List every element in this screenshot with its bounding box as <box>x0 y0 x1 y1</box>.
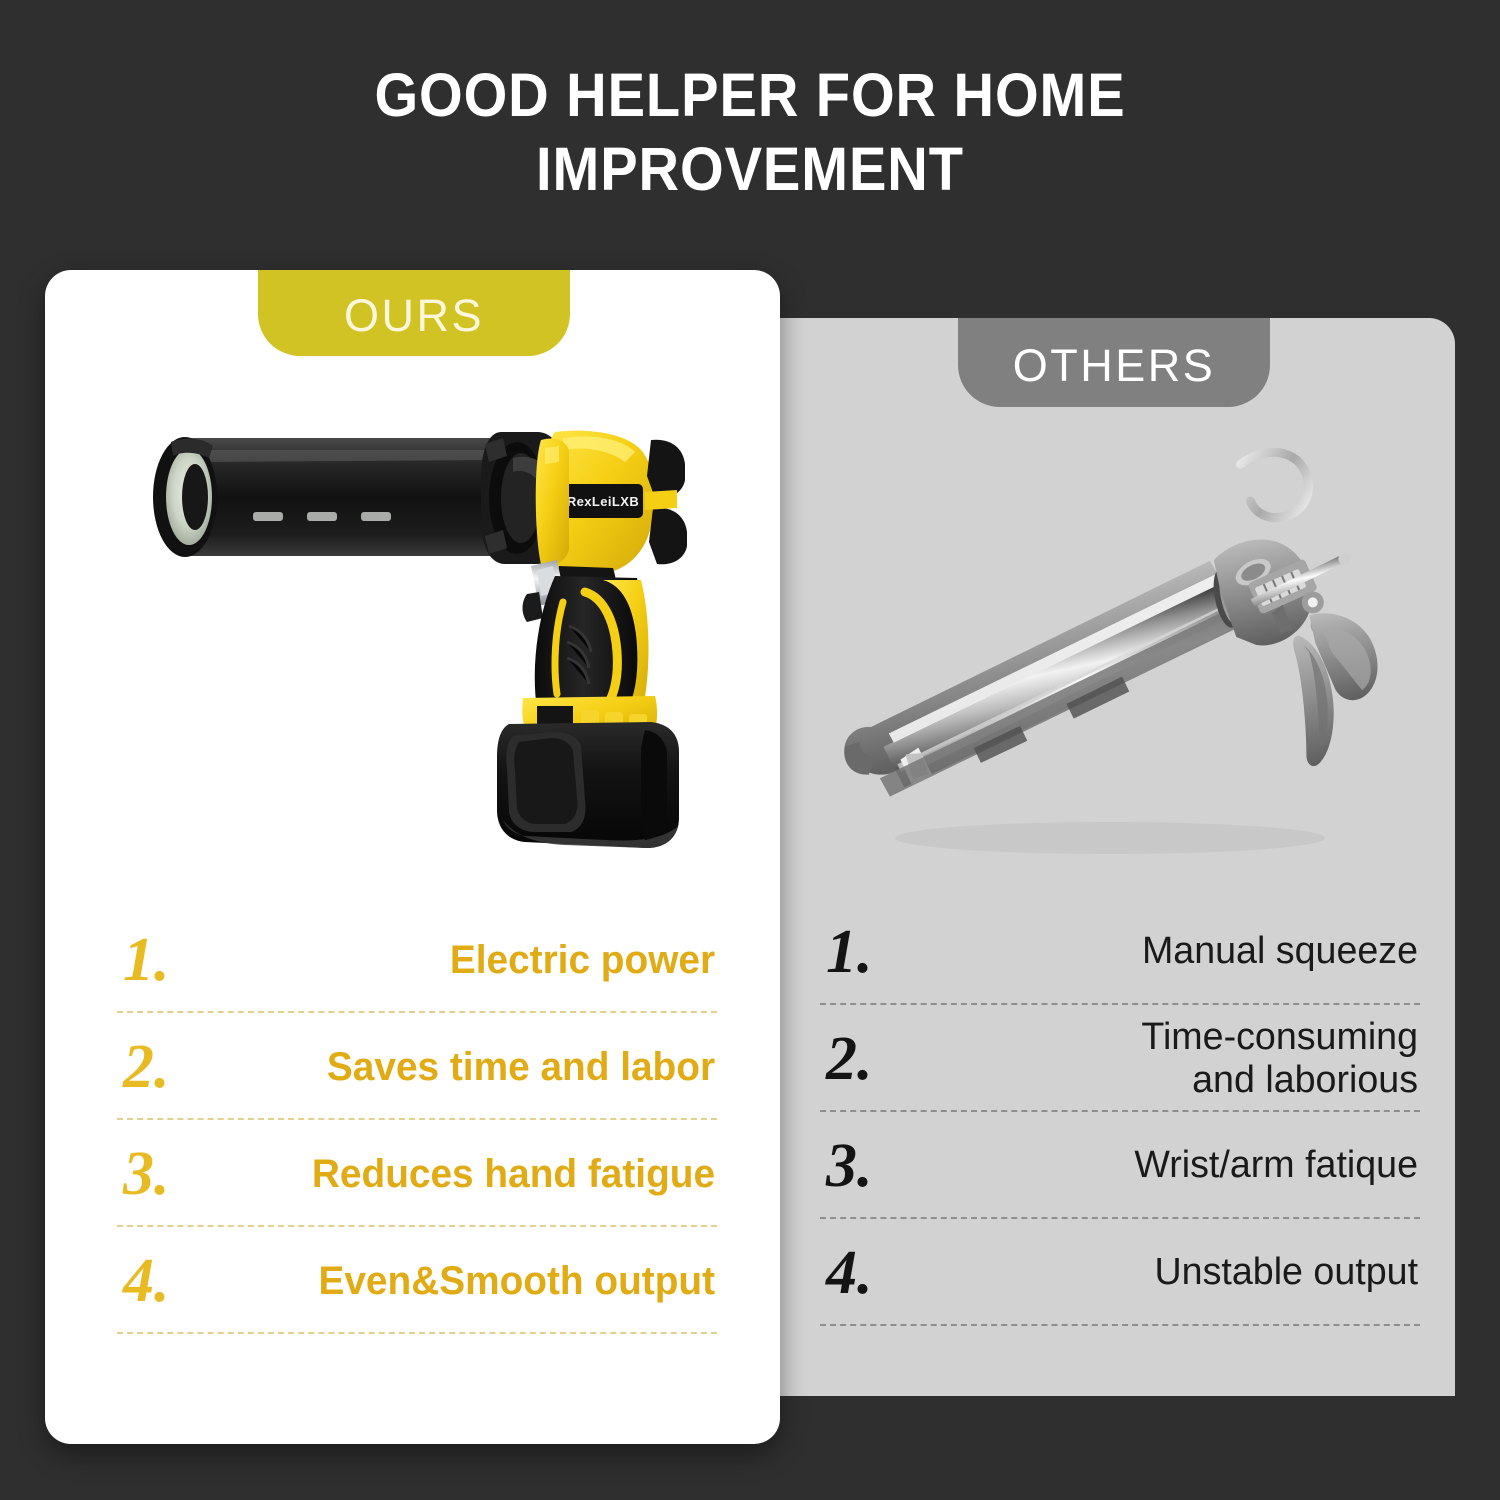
page-title: GOOD HELPER FOR HOME IMPROVEMENT <box>60 58 1440 206</box>
ours-feature-list: 1. Electric power 2. Saves time and labo… <box>117 906 717 1334</box>
list-item-number: 4. <box>820 1242 940 1304</box>
list-item-label: Unstable output <box>945 1251 1420 1294</box>
list-item: 2. Saves time and labor <box>117 1013 717 1120</box>
list-item: 3. Wrist/arm fatique <box>820 1112 1420 1219</box>
list-item: 1. Electric power <box>117 906 717 1013</box>
list-item-number: 3. <box>820 1135 940 1197</box>
list-item-number: 2. <box>117 1036 237 1098</box>
tab-ours-label: OURS <box>344 284 484 342</box>
others-comparison-panel: OTHERS <box>780 318 1455 1396</box>
list-item-label: Saves time and labor <box>251 1044 717 1090</box>
manual-caulking-gun-image <box>810 418 1430 918</box>
list-item-label: Manual squeeze <box>945 930 1420 973</box>
list-item-label: Electric power <box>251 937 717 983</box>
list-item-label: Time-consuming and laborious <box>945 1016 1420 1102</box>
list-item-label: Reduces hand fatigue <box>251 1151 717 1197</box>
list-item-number: 3. <box>117 1143 237 1205</box>
infographic-canvas: GOOD HELPER FOR HOME IMPROVEMENT OTHERS <box>0 0 1500 1500</box>
list-item: 3. Reduces hand fatigue <box>117 1120 717 1227</box>
others-feature-list: 1. Manual squeeze 2. Time-consuming and … <box>820 898 1420 1326</box>
list-item: 4. Even&Smooth output <box>117 1227 717 1334</box>
list-item-number: 4. <box>117 1250 237 1312</box>
list-item: 1. Manual squeeze <box>820 898 1420 1005</box>
list-item: 2. Time-consuming and laborious <box>820 1005 1420 1112</box>
tab-others[interactable]: OTHERS <box>958 318 1270 407</box>
electric-caulking-gun-image: RexLeiLXB <box>85 380 740 900</box>
list-item-label: Even&Smooth output <box>251 1258 717 1304</box>
tab-ours[interactable]: OURS <box>258 270 570 356</box>
ours-comparison-panel: OURS <box>45 270 780 1444</box>
list-item-number: 1. <box>117 929 237 991</box>
list-item-label: Wrist/arm fatique <box>945 1144 1420 1187</box>
tab-others-label: OTHERS <box>1013 334 1216 392</box>
list-item-number: 2. <box>820 1028 940 1090</box>
list-divider <box>820 1324 1420 1326</box>
list-item-number: 1. <box>820 921 940 983</box>
brand-label-text: RexLeiLXB <box>567 494 639 509</box>
list-item: 4. Unstable output <box>820 1219 1420 1326</box>
list-divider <box>117 1332 717 1334</box>
